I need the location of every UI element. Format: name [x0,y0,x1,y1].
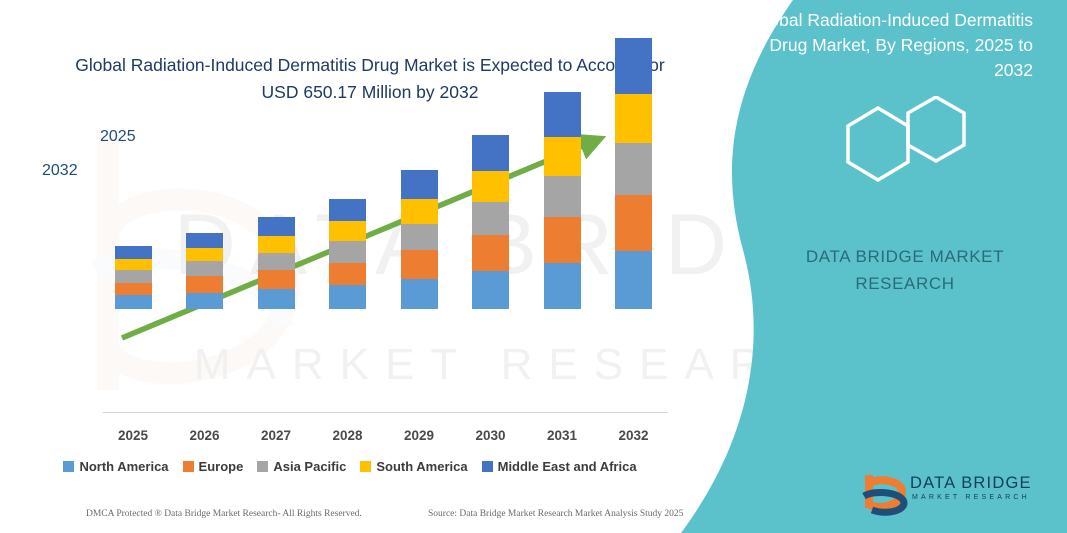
bar-2031 [544,92,581,309]
bar-segment [329,221,366,241]
legend-swatch-icon [183,461,194,472]
panel-brand-line1: DATA BRIDGE MARKET [760,243,1050,270]
bar-segment [544,217,581,262]
legend-label: South America [376,459,467,474]
bar-segment [115,283,152,296]
bar-segment [258,253,295,271]
bar-2030 [472,135,509,309]
data-bridge-b-icon [862,472,908,516]
bar-segment [186,261,223,276]
footer-source: Source: Data Bridge Market Research Mark… [428,509,683,519]
legend-item[interactable]: Europe [183,459,244,474]
bar-segment [472,235,509,271]
bar-segment [329,241,366,262]
logo-title: DATA BRIDGE [910,474,1032,493]
x-label-2029: 2029 [384,428,454,443]
data-bridge-logo: DATA BRIDGE MARKET RESEARCH [862,472,1042,518]
bar-2029 [401,170,438,309]
panel-brand-line2: RESEARCH [760,270,1050,297]
x-label-2028: 2028 [313,428,383,443]
legend-swatch-icon [482,461,493,472]
bar-2026 [186,233,223,309]
legend-label: Europe [199,459,244,474]
bar-segment [544,176,581,217]
bar-2025 [115,246,152,309]
bar-segment [615,251,652,309]
bar-segment [329,263,366,286]
bar-segment [401,250,438,279]
hexagon-2032 [848,108,908,180]
bar-segment [115,295,152,309]
bar-segment [401,199,438,224]
legend-label: Middle East and Africa [498,459,637,474]
legend-item[interactable]: South America [360,459,467,474]
bar-segment [329,285,366,309]
bar-segment [401,224,438,250]
footer-copyright: DMCA Protected ® Data Bridge Market Rese… [86,509,362,519]
bar-segment [472,202,509,235]
bar-segment [115,259,152,270]
bar-segment [472,135,509,171]
legend-swatch-icon [360,461,371,472]
legend-item[interactable]: Asia Pacific [257,459,346,474]
bar-segment [258,270,295,289]
bar-2032 [615,38,652,309]
bar-segment [401,170,438,199]
panel-title: Global Radiation-Induced Dermatitis Drug… [733,8,1033,83]
bar-segment [615,195,652,251]
logo-subtitle: MARKET RESEARCH [912,494,1030,501]
x-label-2025: 2025 [98,428,168,443]
legend-item[interactable]: North America [63,459,168,474]
bar-segment [258,217,295,236]
bar-segment [115,246,152,259]
x-label-2026: 2026 [170,428,240,443]
legend-swatch-icon [257,461,268,472]
legend-label: Asia Pacific [273,459,346,474]
legend-item[interactable]: Middle East and Africa [482,459,637,474]
bar-segment [401,279,438,309]
bar-segment [186,276,223,292]
bar-segment [615,143,652,194]
bar-segment [472,171,509,202]
bar-segment [186,248,223,262]
x-label-2030: 2030 [456,428,526,443]
bar-segment [544,137,581,176]
x-label-2031: 2031 [527,428,597,443]
bar-segment [258,236,295,252]
bar-segment [258,289,295,309]
x-axis-line [103,412,668,413]
hexagon-2025 [908,97,964,161]
chart-legend: North AmericaEuropeAsia PacificSouth Ame… [0,459,700,474]
panel-brand-text: DATA BRIDGE MARKET RESEARCH [760,243,1050,297]
infographic-canvas: DATA BRIDGE MARKET RESEARCH Global Radia… [0,0,1067,533]
bar-2028 [329,199,366,309]
bar-segment [615,94,652,143]
bar-segment [544,263,581,309]
bar-segment [115,270,152,283]
x-label-2032: 2032 [599,428,669,443]
bar-segment [186,233,223,248]
bar-segment [615,38,652,94]
x-label-2027: 2027 [241,428,311,443]
stacked-bar-chart: 20252026202720282029203020312032 [0,0,700,430]
bar-segment [472,271,509,309]
bar-segment [329,199,366,222]
bar-2027 [258,217,295,309]
legend-label: North America [79,459,168,474]
bar-segment [186,293,223,309]
year-hexagons [812,96,992,206]
bar-segment [544,92,581,137]
legend-swatch-icon [63,461,74,472]
